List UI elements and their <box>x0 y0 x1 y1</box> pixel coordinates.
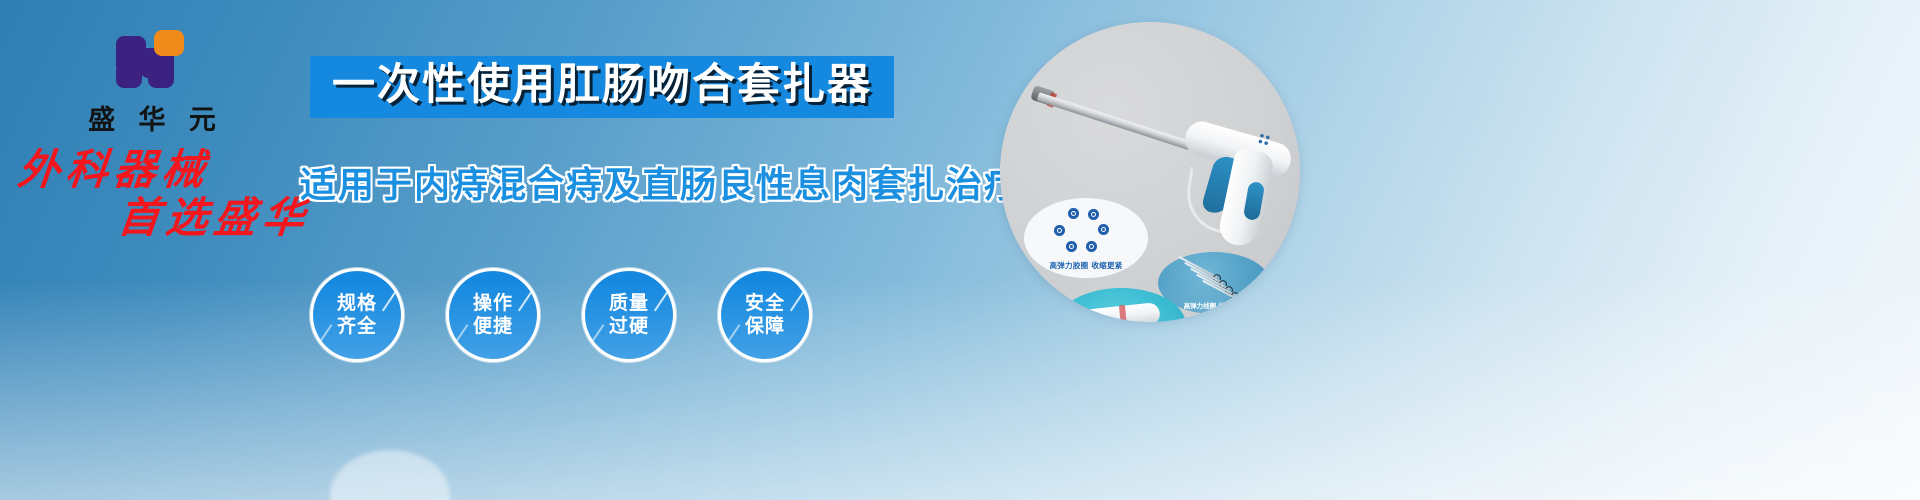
feature-badge-specs[interactable]: 规格 齐全 <box>310 268 404 362</box>
product-photo-circle[interactable]: 高弹力胶圈 收缩更紧 高弹力线圈 扎的更紧 <box>1000 22 1300 322</box>
feature-badge-safety[interactable]: 安全 保障 <box>718 268 812 362</box>
feature-badge-line-2: 过硬 <box>609 315 649 338</box>
slogan-line-1: 外科器械 <box>16 148 351 192</box>
badge-slash-secondary-icon <box>456 324 469 342</box>
headline-text: 一次性使用肛肠吻合套扎器 <box>332 62 872 108</box>
company-name: 盛 华 元 <box>62 98 242 137</box>
feature-badge-line-1: 规格 <box>337 292 377 315</box>
feature-badge-quality[interactable]: 质量 过硬 <box>582 268 676 362</box>
inset-rubber-rings: 高弹力胶圈 收缩更紧 <box>1024 198 1148 278</box>
brand-logo[interactable]: 盛 华 元 <box>62 26 242 137</box>
feature-badge-line-2: 便捷 <box>473 315 513 338</box>
badge-slash-icon <box>654 289 670 312</box>
device-barrel <box>1037 92 1192 150</box>
badge-slash-secondary-icon <box>320 324 333 342</box>
headline-bar: 一次性使用肛肠吻合套扎器 <box>310 56 894 118</box>
feature-badge-line-2: 齐全 <box>337 315 377 338</box>
badge-slash-icon <box>518 289 534 312</box>
badge-slash-icon <box>790 289 806 312</box>
logo-mark-icon <box>110 26 194 94</box>
promo-banner: 盛 华 元 一次性使用肛肠吻合套扎器 适用于内痔混合痔及直肠良性息肉套扎治疗 外… <box>0 0 1920 500</box>
slogan-line-2: 首选盛华 <box>116 196 351 240</box>
badge-slash-icon <box>382 289 398 312</box>
badge-slash-secondary-icon <box>592 324 605 342</box>
brand-slogan: 外科器械 首选盛华 <box>18 148 348 240</box>
feature-badge-line-2: 保障 <box>745 315 785 338</box>
subtitle-text: 适用于内痔混合痔及直肠良性息肉套扎治疗 <box>300 156 1022 208</box>
wire-loop-icon <box>1190 268 1230 290</box>
decorative-wisp <box>330 450 450 500</box>
feature-badge-line-1: 质量 <box>609 292 649 315</box>
feature-badge-line-1: 操作 <box>473 292 513 315</box>
rubber-ring-cluster-icon <box>1054 208 1110 252</box>
inset-rings-caption: 高弹力胶圈 收缩更紧 <box>1024 260 1148 271</box>
badge-slash-secondary-icon <box>728 324 741 342</box>
feature-badge-list: 规格 齐全 操作 便捷 质量 过硬 安全 保障 <box>310 268 812 362</box>
feature-badge-operation[interactable]: 操作 便捷 <box>446 268 540 362</box>
feature-badge-line-1: 安全 <box>745 292 785 315</box>
